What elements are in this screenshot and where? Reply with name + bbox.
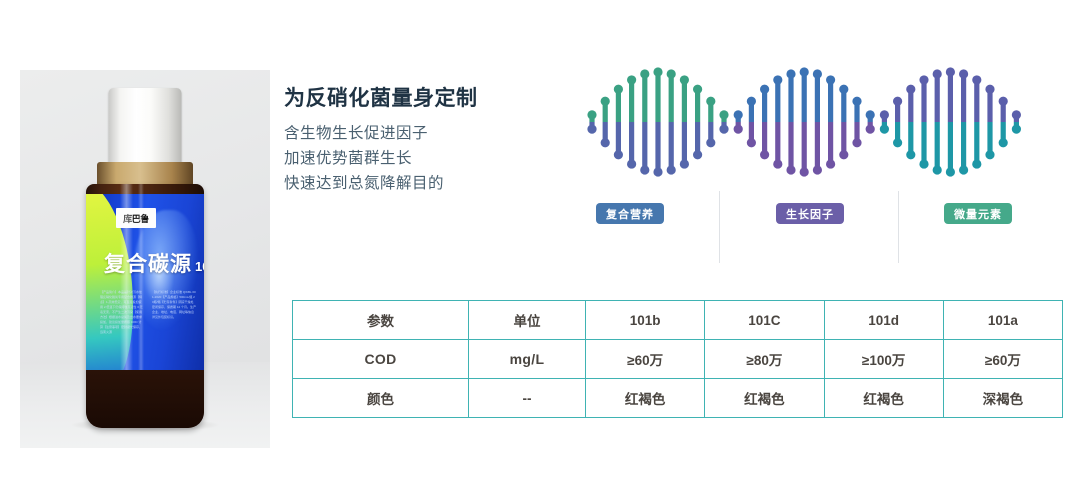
table-row: 颜色 -- 红褐色 红褐色 红褐色 深褐色 (293, 379, 1063, 418)
bottle-body: 库巴鲁 复合碳源101 【产品简介】本品是针对污水处理反硝化脱氮专用复合碳源【特… (86, 184, 204, 428)
label-product-name-text: 复合碳源 (104, 253, 192, 276)
badge-compound-nutrition[interactable]: 复合营养 (596, 203, 664, 224)
cell-unit-cod: mg/L (469, 340, 586, 379)
cell-color-101d: 红褐色 (824, 379, 943, 418)
header-101d: 101d (824, 301, 943, 340)
badge-divider-1 (719, 191, 720, 263)
cell-color-101b: 红褐色 (586, 379, 705, 418)
table-header-row: 参数 单位 101b 101C 101d 101a (293, 301, 1063, 340)
copy-line-1: 含生物生长促进因子 (284, 121, 554, 146)
product-bottle: 库巴鲁 复合碳源101 【产品简介】本品是针对污水处理反硝化脱氮专用复合碳源【特… (81, 88, 209, 428)
cell-color-101a: 深褐色 (943, 379, 1062, 418)
badge-growth-factor[interactable]: 生长因子 (776, 203, 844, 224)
cell-param-color: 颜色 (293, 379, 469, 418)
feature-badges: 复合营养 生长因子 微量元素 (586, 203, 1056, 275)
product-photo: 库巴鲁 复合碳源101 【产品简介】本品是针对污水处理反硝化脱氮专用复合碳源【特… (20, 70, 270, 448)
copy-line-2: 加速优势菌群生长 (284, 146, 554, 171)
cell-cod-101d: ≥100万 (824, 340, 943, 379)
cell-cod-101c: ≥80万 (705, 340, 824, 379)
header-101a: 101a (943, 301, 1062, 340)
page-title: 为反硝化菌量身定制 (284, 86, 554, 112)
header-parameter: 参数 (293, 301, 469, 340)
badge-trace-elements[interactable]: 微量元素 (944, 203, 1012, 224)
table-row: COD mg/L ≥60万 ≥80万 ≥100万 ≥60万 (293, 340, 1063, 379)
header-101c: 101C (705, 301, 824, 340)
bottle-liquid-bottom (86, 370, 204, 428)
cell-cod-101b: ≥60万 (586, 340, 705, 379)
header-101b: 101b (586, 301, 705, 340)
badge-divider-2 (898, 191, 899, 263)
cell-param-cod: COD (293, 340, 469, 379)
cell-cod-101a: ≥60万 (943, 340, 1062, 379)
label-product-name: 复合碳源101 (104, 248, 204, 278)
spec-table: 参数 单位 101b 101C 101d 101a COD mg/L ≥60万 … (292, 300, 1063, 418)
header-unit: 单位 (469, 301, 586, 340)
copy-line-3: 快速达到总氮降解目的 (284, 171, 554, 196)
copy-block: 为反硝化菌量身定制 含生物生长促进因子 加速优势菌群生长 快速达到总氮降解目的 (284, 86, 554, 197)
bottle-cap (109, 88, 182, 168)
cell-unit-color: -- (469, 379, 586, 418)
dna-helix-svg (586, 60, 1056, 185)
dna-helix-graphic (586, 60, 1056, 185)
label-fineprint-right: 【执行标准】企业标准 Q/KBL 001-2020【产品规格】500mL/瓶 2… (152, 290, 196, 320)
bottle-label: 库巴鲁 复合碳源101 【产品简介】本品是针对污水处理反硝化脱氮专用复合碳源【特… (86, 194, 204, 372)
label-product-number: 101 (195, 259, 204, 274)
cell-color-101c: 红褐色 (705, 379, 824, 418)
